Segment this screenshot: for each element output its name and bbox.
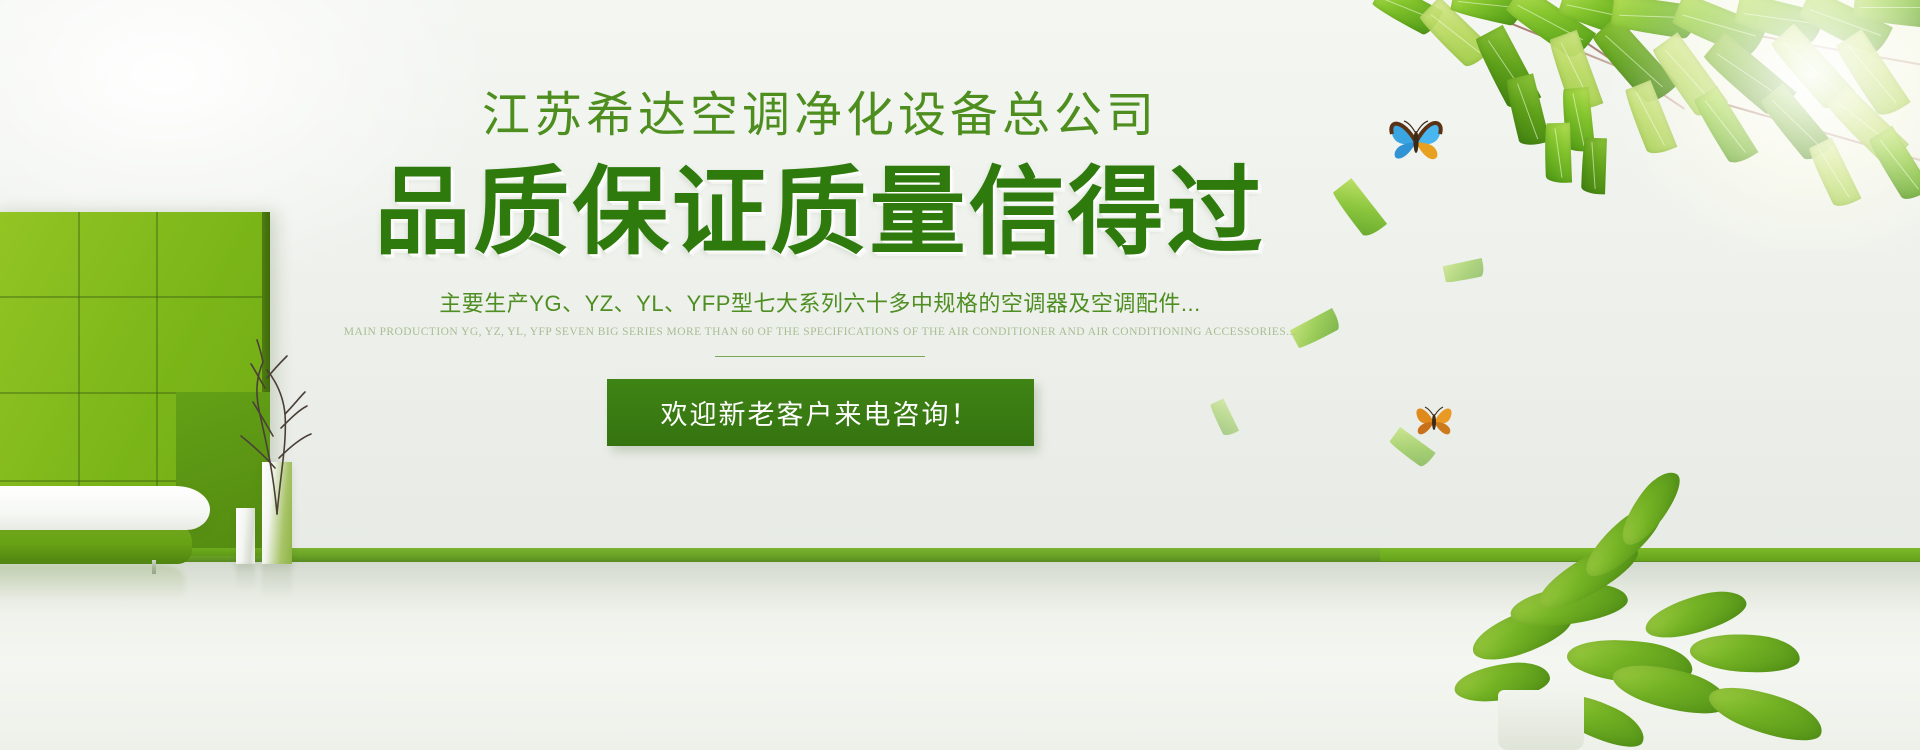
sofa-floor-reflection <box>0 564 185 604</box>
headline-slogan: 品质保证质量信得过 <box>340 162 1300 264</box>
plant-pot <box>1498 690 1584 750</box>
vase-small-reflection <box>236 564 255 590</box>
divider <box>715 356 925 357</box>
dried-branches-icon <box>215 318 335 518</box>
product-description-cn: 主要生产YG、YZ、YL、YFP型七大系列六十多中规格的空调器及空调配件... <box>340 286 1300 318</box>
butterfly-orange-icon <box>1412 400 1456 440</box>
promotional-banner: 江苏希达空调净化设备总公司 品质保证质量信得过 主要生产YG、YZ、YL、YFP… <box>0 0 1920 750</box>
sofa-seat <box>0 486 210 530</box>
banner-content: 江苏希达空调净化设备总公司 品质保证质量信得过 主要生产YG、YZ、YL、YFP… <box>340 92 1300 446</box>
floor-skirting-stripe-right <box>1380 548 1920 561</box>
product-description-en: MAIN PRODUCTION YG, YZ, YL, YFP SEVEN BI… <box>340 326 1300 338</box>
contact-cta-button[interactable]: 欢迎新老客户来电咨询！ <box>607 379 1034 446</box>
company-name: 江苏希达空调净化设备总公司 <box>340 92 1300 140</box>
vase-large-reflection <box>262 564 292 598</box>
butterfly-blue-icon <box>1386 112 1446 166</box>
